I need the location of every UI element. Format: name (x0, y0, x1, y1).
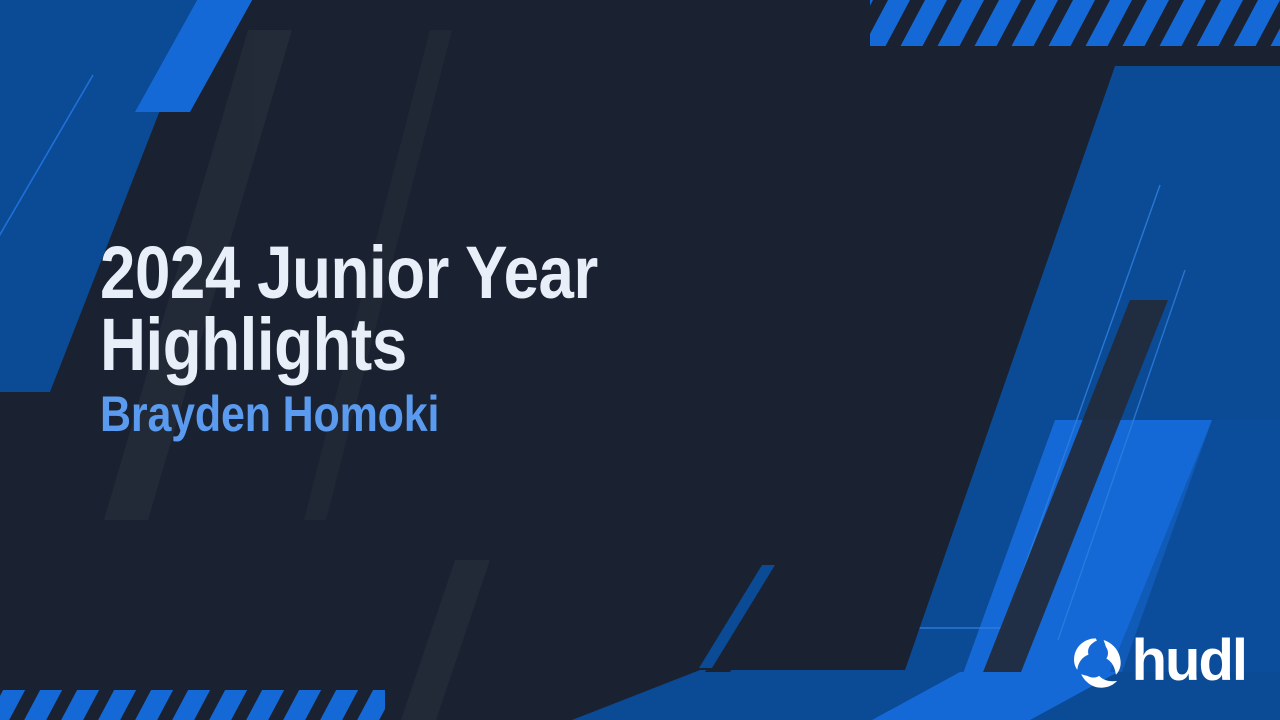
accent-line-right (1058, 270, 1185, 640)
hudl-wordmark: hudl (1132, 632, 1246, 690)
hudl-logo-mark-icon (1070, 635, 1126, 691)
top-right-stripe-group (870, 0, 1280, 46)
page-title: 2024 Junior Year Highlights (100, 237, 668, 381)
accent-line-left (0, 75, 93, 238)
top-left-bright-stripe (135, 0, 255, 112)
accent-line-left-2 (0, 75, 93, 238)
hudl-logo: hudl (1070, 634, 1246, 692)
bottom-left-stripe-group (0, 690, 385, 720)
accent-outline-line (840, 185, 1160, 628)
top-left-bright-stripe-2 (135, 0, 255, 112)
athlete-name: Brayden Homoki (100, 389, 668, 439)
navy-sliver-bottom (705, 560, 800, 672)
blue-sliver-bottom (699, 565, 775, 668)
title-block: 2024 Junior Year Highlights Brayden Homo… (100, 237, 760, 439)
hudl-highlight-title-slide: 2024 Junior Year Highlights Brayden Homo… (0, 0, 1280, 720)
